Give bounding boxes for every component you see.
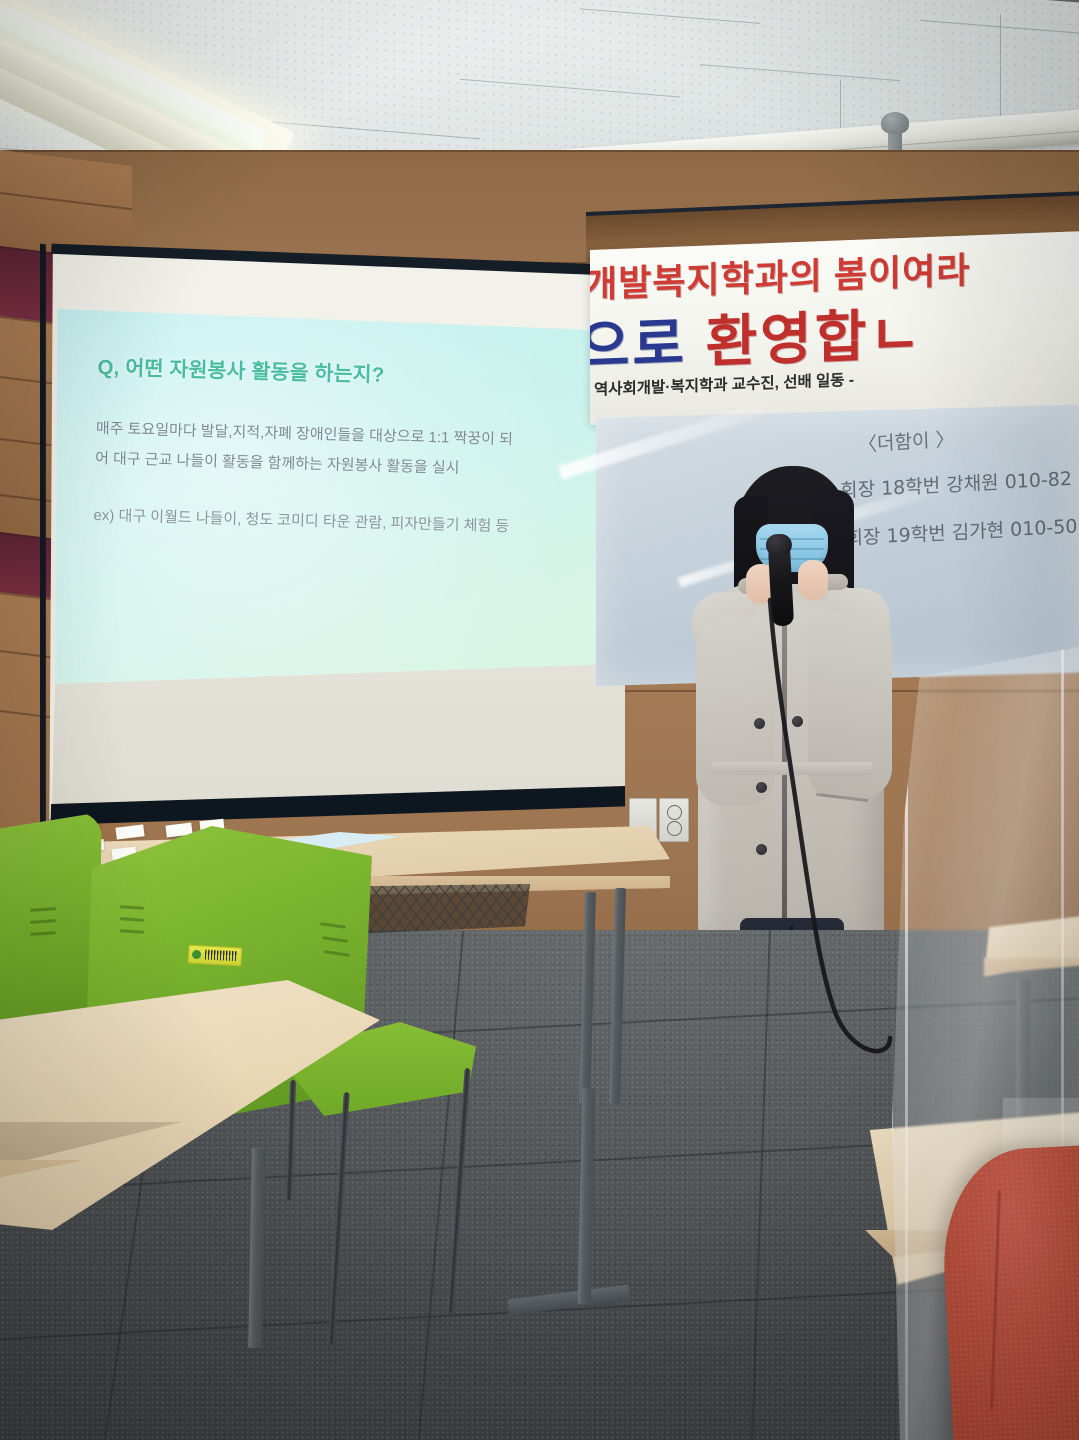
banner-line-2-part-1: 으로 [590, 311, 687, 378]
coat-belt [712, 762, 872, 775]
coat-button [754, 718, 765, 729]
barcode [205, 949, 237, 961]
projection-screen: Q, 어떤 자원봉사 활동을 하는지? 매주 토요일마다 발달,지적,자폐 장애… [40, 228, 625, 828]
whiteboard-heading: 〈더함이 〉 [858, 424, 955, 457]
power-socket[interactable] [659, 798, 689, 842]
classroom-scene: Q, 어떤 자원봉사 활동을 하는지? 매주 토요일마다 발달,지적,자폐 장애… [0, 0, 1079, 1440]
asset-tag-label [188, 945, 243, 967]
slide-body: 매주 토요일마다 발달,지적,자폐 장애인들을 대상으로 1:1 짝꿍이 되 어… [95, 414, 596, 488]
welcome-banner: 개발복지학과의 봄이여라 으로 환영합ㄴ 역사회개발·복지학과 교수진, 선배 … [590, 231, 1079, 425]
left-arm [696, 616, 774, 806]
coat-button [756, 844, 767, 855]
right-hand [798, 560, 828, 600]
coat-button [756, 782, 767, 793]
microphone-head [765, 533, 792, 556]
coat-button [792, 716, 803, 727]
banner-line-2-part-2: 환영합ㄴ [706, 302, 924, 373]
slide-content: Q, 어떤 자원봉사 활동을 하는지? 매주 토요일마다 발달,지적,자폐 장애… [93, 350, 598, 538]
recycle-icon [192, 949, 201, 958]
bracket-knob [881, 112, 909, 134]
microphone[interactable] [768, 543, 794, 626]
